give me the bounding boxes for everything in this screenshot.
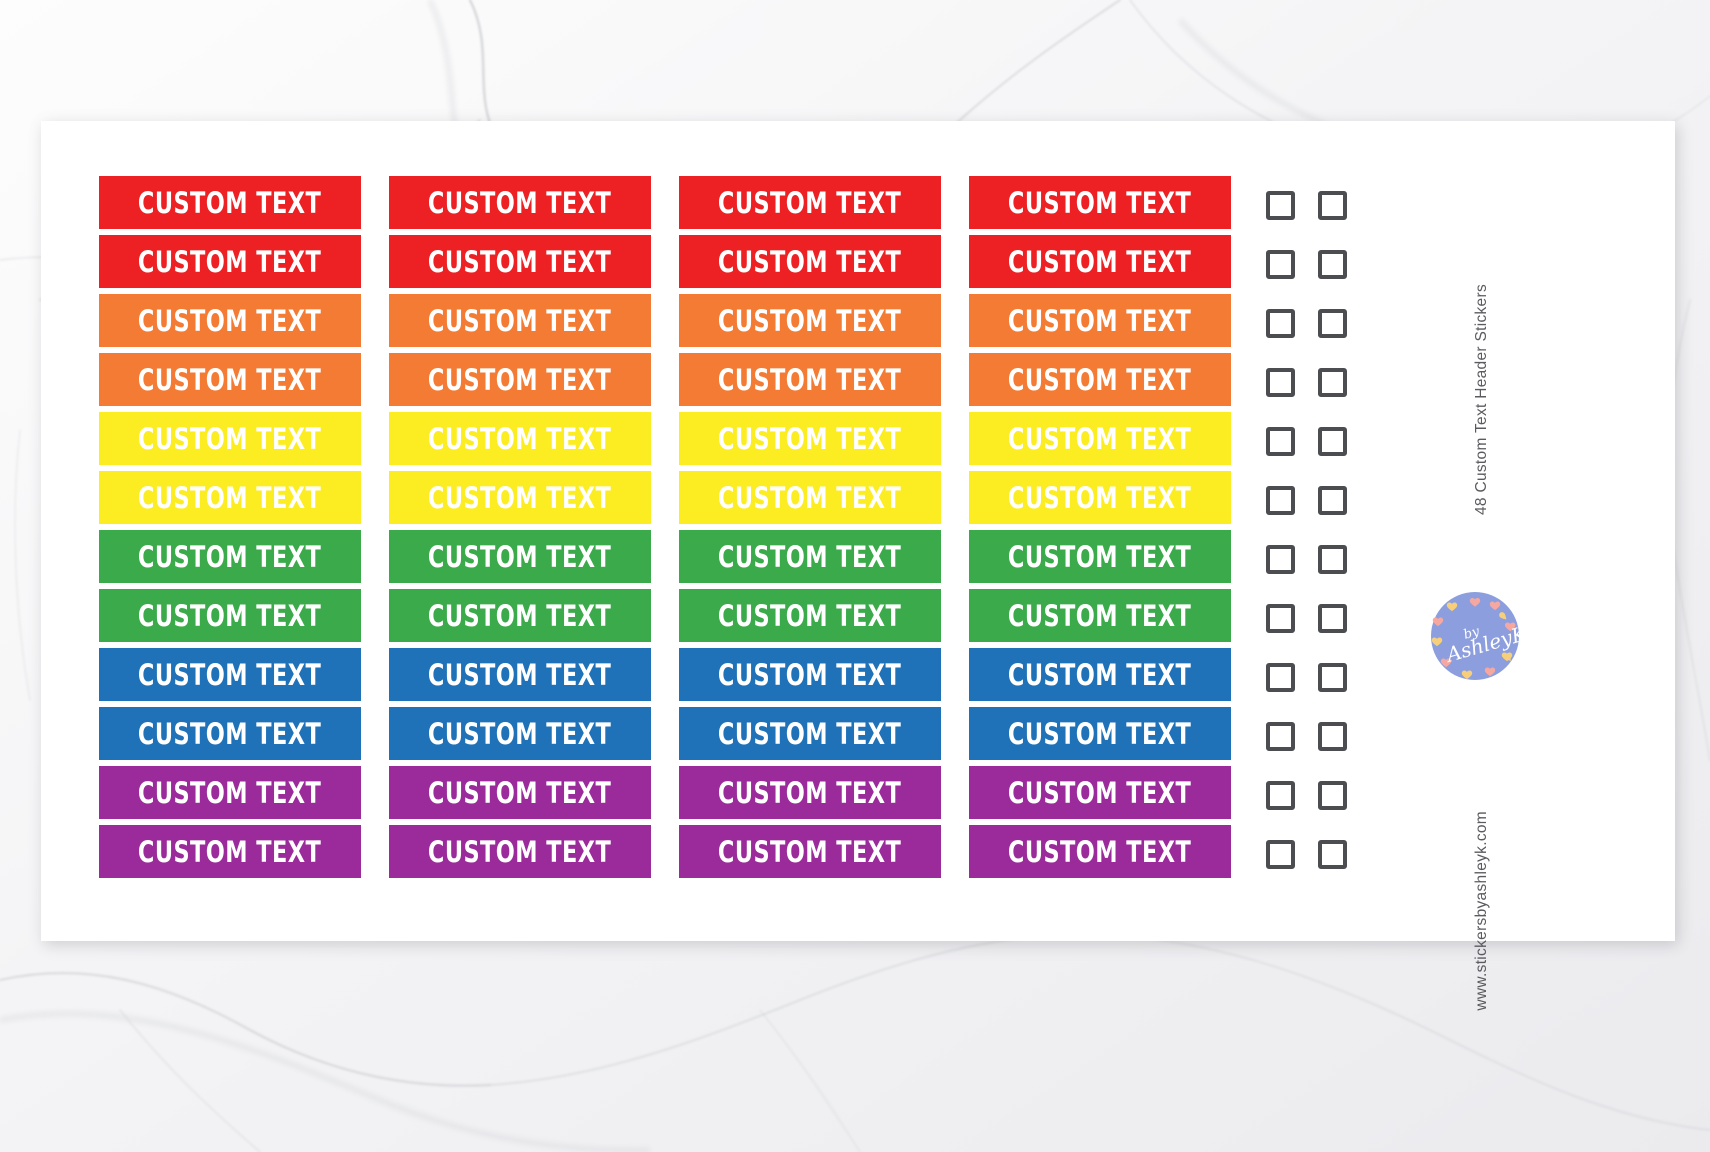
sticker-green-r7-c3[interactable]: CUSTOM TEXT bbox=[679, 530, 941, 583]
sticker-purple-r12-c4[interactable]: CUSTOM TEXT bbox=[969, 825, 1231, 878]
sticker-blue-r9-c2[interactable]: CUSTOM TEXT bbox=[389, 648, 651, 701]
sticker-blue-r10-c2[interactable]: CUSTOM TEXT bbox=[389, 707, 651, 760]
sticker-blue-r10-c1[interactable]: CUSTOM TEXT bbox=[99, 707, 361, 760]
marble-background: CUSTOM TEXTCUSTOM TEXTCUSTOM TEXTCUSTOM … bbox=[0, 0, 1710, 1152]
sticker-label: CUSTOM TEXT bbox=[1008, 422, 1191, 456]
sticker-label: CUSTOM TEXT bbox=[428, 717, 611, 751]
checkbox-square-r12-c2[interactable] bbox=[1318, 840, 1347, 869]
sticker-label: CUSTOM TEXT bbox=[1008, 481, 1191, 515]
sticker-grid: CUSTOM TEXTCUSTOM TEXTCUSTOM TEXTCUSTOM … bbox=[99, 176, 1254, 878]
checkbox-square-r4-c2[interactable] bbox=[1318, 368, 1347, 397]
sticker-purple-r11-c3[interactable]: CUSTOM TEXT bbox=[679, 766, 941, 819]
sticker-label: CUSTOM TEXT bbox=[718, 245, 901, 279]
checkbox-square-r7-c1[interactable] bbox=[1266, 545, 1295, 574]
checkbox-square-r9-c2[interactable] bbox=[1318, 663, 1347, 692]
shop-url-vertical: www.stickersbyashleyk.com bbox=[1473, 811, 1491, 1011]
sticker-label: CUSTOM TEXT bbox=[138, 776, 321, 810]
checkbox-square-r10-c2[interactable] bbox=[1318, 722, 1347, 751]
sticker-label: CUSTOM TEXT bbox=[718, 776, 901, 810]
sticker-label: CUSTOM TEXT bbox=[138, 245, 321, 279]
sticker-red-r2-c2[interactable]: CUSTOM TEXT bbox=[389, 235, 651, 288]
sticker-label: CUSTOM TEXT bbox=[718, 481, 901, 515]
sticker-label: CUSTOM TEXT bbox=[428, 422, 611, 456]
sticker-label: CUSTOM TEXT bbox=[718, 717, 901, 751]
sticker-label: CUSTOM TEXT bbox=[428, 363, 611, 397]
sticker-purple-r11-c2[interactable]: CUSTOM TEXT bbox=[389, 766, 651, 819]
sticker-orange-r4-c1[interactable]: CUSTOM TEXT bbox=[99, 353, 361, 406]
sticker-label: CUSTOM TEXT bbox=[1008, 245, 1191, 279]
sticker-label: CUSTOM TEXT bbox=[138, 717, 321, 751]
sticker-label: CUSTOM TEXT bbox=[138, 658, 321, 692]
sticker-label: CUSTOM TEXT bbox=[718, 422, 901, 456]
checkbox-square-r7-c2[interactable] bbox=[1318, 545, 1347, 574]
sticker-label: CUSTOM TEXT bbox=[428, 245, 611, 279]
sticker-green-r8-c1[interactable]: CUSTOM TEXT bbox=[99, 589, 361, 642]
checkbox-square-r11-c1[interactable] bbox=[1266, 781, 1295, 810]
sticker-label: CUSTOM TEXT bbox=[718, 658, 901, 692]
sticker-green-r7-c1[interactable]: CUSTOM TEXT bbox=[99, 530, 361, 583]
checkbox-grid bbox=[1254, 176, 1358, 884]
sticker-label: CUSTOM TEXT bbox=[428, 599, 611, 633]
sticker-green-r7-c2[interactable]: CUSTOM TEXT bbox=[389, 530, 651, 583]
checkbox-square-r3-c2[interactable] bbox=[1318, 309, 1347, 338]
sticker-label: CUSTOM TEXT bbox=[1008, 599, 1191, 633]
sticker-orange-r4-c2[interactable]: CUSTOM TEXT bbox=[389, 353, 651, 406]
sticker-label: CUSTOM TEXT bbox=[138, 422, 321, 456]
checkbox-square-r5-c2[interactable] bbox=[1318, 427, 1347, 456]
by-ashleyk-logo-icon: by AshleyK bbox=[1429, 590, 1521, 682]
sticker-label: CUSTOM TEXT bbox=[428, 540, 611, 574]
sticker-label: CUSTOM TEXT bbox=[718, 363, 901, 397]
sticker-purple-r11-c1[interactable]: CUSTOM TEXT bbox=[99, 766, 361, 819]
sticker-blue-r10-c4[interactable]: CUSTOM TEXT bbox=[969, 707, 1231, 760]
sticker-label: CUSTOM TEXT bbox=[718, 540, 901, 574]
checkbox-square-r4-c1[interactable] bbox=[1266, 368, 1295, 397]
checkbox-square-r5-c1[interactable] bbox=[1266, 427, 1295, 456]
checkbox-square-r12-c1[interactable] bbox=[1266, 840, 1295, 869]
sticker-orange-r4-c3[interactable]: CUSTOM TEXT bbox=[679, 353, 941, 406]
sticker-red-r1-c3[interactable]: CUSTOM TEXT bbox=[679, 176, 941, 229]
sticker-yellow-r5-c1[interactable]: CUSTOM TEXT bbox=[99, 412, 361, 465]
sticker-green-r8-c3[interactable]: CUSTOM TEXT bbox=[679, 589, 941, 642]
sticker-yellow-r5-c3[interactable]: CUSTOM TEXT bbox=[679, 412, 941, 465]
sticker-yellow-r6-c1[interactable]: CUSTOM TEXT bbox=[99, 471, 361, 524]
sticker-label: CUSTOM TEXT bbox=[428, 776, 611, 810]
checkbox-square-r6-c2[interactable] bbox=[1318, 486, 1347, 515]
checkbox-square-r6-c1[interactable] bbox=[1266, 486, 1295, 515]
sticker-label: CUSTOM TEXT bbox=[138, 363, 321, 397]
sticker-label: CUSTOM TEXT bbox=[138, 304, 321, 338]
sticker-purple-r12-c3[interactable]: CUSTOM TEXT bbox=[679, 825, 941, 878]
sticker-yellow-r5-c4[interactable]: CUSTOM TEXT bbox=[969, 412, 1231, 465]
sticker-label: CUSTOM TEXT bbox=[428, 304, 611, 338]
checkbox-square-r11-c2[interactable] bbox=[1318, 781, 1347, 810]
sticker-yellow-r5-c2[interactable]: CUSTOM TEXT bbox=[389, 412, 651, 465]
sticker-yellow-r6-c3[interactable]: CUSTOM TEXT bbox=[679, 471, 941, 524]
sticker-label: CUSTOM TEXT bbox=[1008, 658, 1191, 692]
sticker-label: CUSTOM TEXT bbox=[1008, 363, 1191, 397]
checkbox-square-r9-c1[interactable] bbox=[1266, 663, 1295, 692]
checkbox-square-r10-c1[interactable] bbox=[1266, 722, 1295, 751]
sticker-blue-r9-c4[interactable]: CUSTOM TEXT bbox=[969, 648, 1231, 701]
sticker-blue-r10-c3[interactable]: CUSTOM TEXT bbox=[679, 707, 941, 760]
sticker-sheet: CUSTOM TEXTCUSTOM TEXTCUSTOM TEXTCUSTOM … bbox=[41, 121, 1675, 941]
sticker-label: CUSTOM TEXT bbox=[718, 599, 901, 633]
sticker-label: CUSTOM TEXT bbox=[138, 540, 321, 574]
checkbox-square-r2-c2[interactable] bbox=[1318, 250, 1347, 279]
sticker-label: CUSTOM TEXT bbox=[718, 186, 901, 220]
sticker-label: CUSTOM TEXT bbox=[138, 481, 321, 515]
sticker-green-r7-c4[interactable]: CUSTOM TEXT bbox=[969, 530, 1231, 583]
checkbox-square-r1-c2[interactable] bbox=[1318, 191, 1347, 220]
product-title-vertical: 48 Custom Text Header Stickers bbox=[1473, 284, 1491, 515]
sticker-label: CUSTOM TEXT bbox=[1008, 717, 1191, 751]
sticker-red-r2-c4[interactable]: CUSTOM TEXT bbox=[969, 235, 1231, 288]
sticker-label: CUSTOM TEXT bbox=[428, 481, 611, 515]
sticker-purple-r12-c2[interactable]: CUSTOM TEXT bbox=[389, 825, 651, 878]
sticker-green-r8-c2[interactable]: CUSTOM TEXT bbox=[389, 589, 651, 642]
sticker-orange-r3-c1[interactable]: CUSTOM TEXT bbox=[99, 294, 361, 347]
sticker-label: CUSTOM TEXT bbox=[428, 186, 611, 220]
sticker-blue-r9-c1[interactable]: CUSTOM TEXT bbox=[99, 648, 361, 701]
sticker-purple-r12-c1[interactable]: CUSTOM TEXT bbox=[99, 825, 361, 878]
sticker-label: CUSTOM TEXT bbox=[428, 835, 611, 869]
sticker-label: CUSTOM TEXT bbox=[718, 304, 901, 338]
checkbox-square-r2-c1[interactable] bbox=[1266, 250, 1295, 279]
sticker-red-r1-c4[interactable]: CUSTOM TEXT bbox=[969, 176, 1231, 229]
sticker-label: CUSTOM TEXT bbox=[138, 599, 321, 633]
sticker-label: CUSTOM TEXT bbox=[718, 835, 901, 869]
sticker-label: CUSTOM TEXT bbox=[1008, 540, 1191, 574]
sticker-label: CUSTOM TEXT bbox=[1008, 186, 1191, 220]
sticker-red-r2-c3[interactable]: CUSTOM TEXT bbox=[679, 235, 941, 288]
sticker-yellow-r6-c2[interactable]: CUSTOM TEXT bbox=[389, 471, 651, 524]
sticker-orange-r3-c4[interactable]: CUSTOM TEXT bbox=[969, 294, 1231, 347]
sticker-blue-r9-c3[interactable]: CUSTOM TEXT bbox=[679, 648, 941, 701]
sticker-orange-r3-c2[interactable]: CUSTOM TEXT bbox=[389, 294, 651, 347]
sticker-label: CUSTOM TEXT bbox=[1008, 776, 1191, 810]
sticker-green-r8-c4[interactable]: CUSTOM TEXT bbox=[969, 589, 1231, 642]
sticker-label: CUSTOM TEXT bbox=[1008, 835, 1191, 869]
checkbox-square-r8-c2[interactable] bbox=[1318, 604, 1347, 633]
sticker-orange-r4-c4[interactable]: CUSTOM TEXT bbox=[969, 353, 1231, 406]
sticker-orange-r3-c3[interactable]: CUSTOM TEXT bbox=[679, 294, 941, 347]
sticker-label: CUSTOM TEXT bbox=[428, 658, 611, 692]
sticker-label: CUSTOM TEXT bbox=[1008, 304, 1191, 338]
sticker-purple-r11-c4[interactable]: CUSTOM TEXT bbox=[969, 766, 1231, 819]
sticker-label: CUSTOM TEXT bbox=[138, 835, 321, 869]
sticker-red-r1-c1[interactable]: CUSTOM TEXT bbox=[99, 176, 361, 229]
checkbox-square-r8-c1[interactable] bbox=[1266, 604, 1295, 633]
checkbox-square-r1-c1[interactable] bbox=[1266, 191, 1295, 220]
sticker-label: CUSTOM TEXT bbox=[138, 186, 321, 220]
sticker-yellow-r6-c4[interactable]: CUSTOM TEXT bbox=[969, 471, 1231, 524]
checkbox-square-r3-c1[interactable] bbox=[1266, 309, 1295, 338]
sticker-red-r1-c2[interactable]: CUSTOM TEXT bbox=[389, 176, 651, 229]
sticker-red-r2-c1[interactable]: CUSTOM TEXT bbox=[99, 235, 361, 288]
